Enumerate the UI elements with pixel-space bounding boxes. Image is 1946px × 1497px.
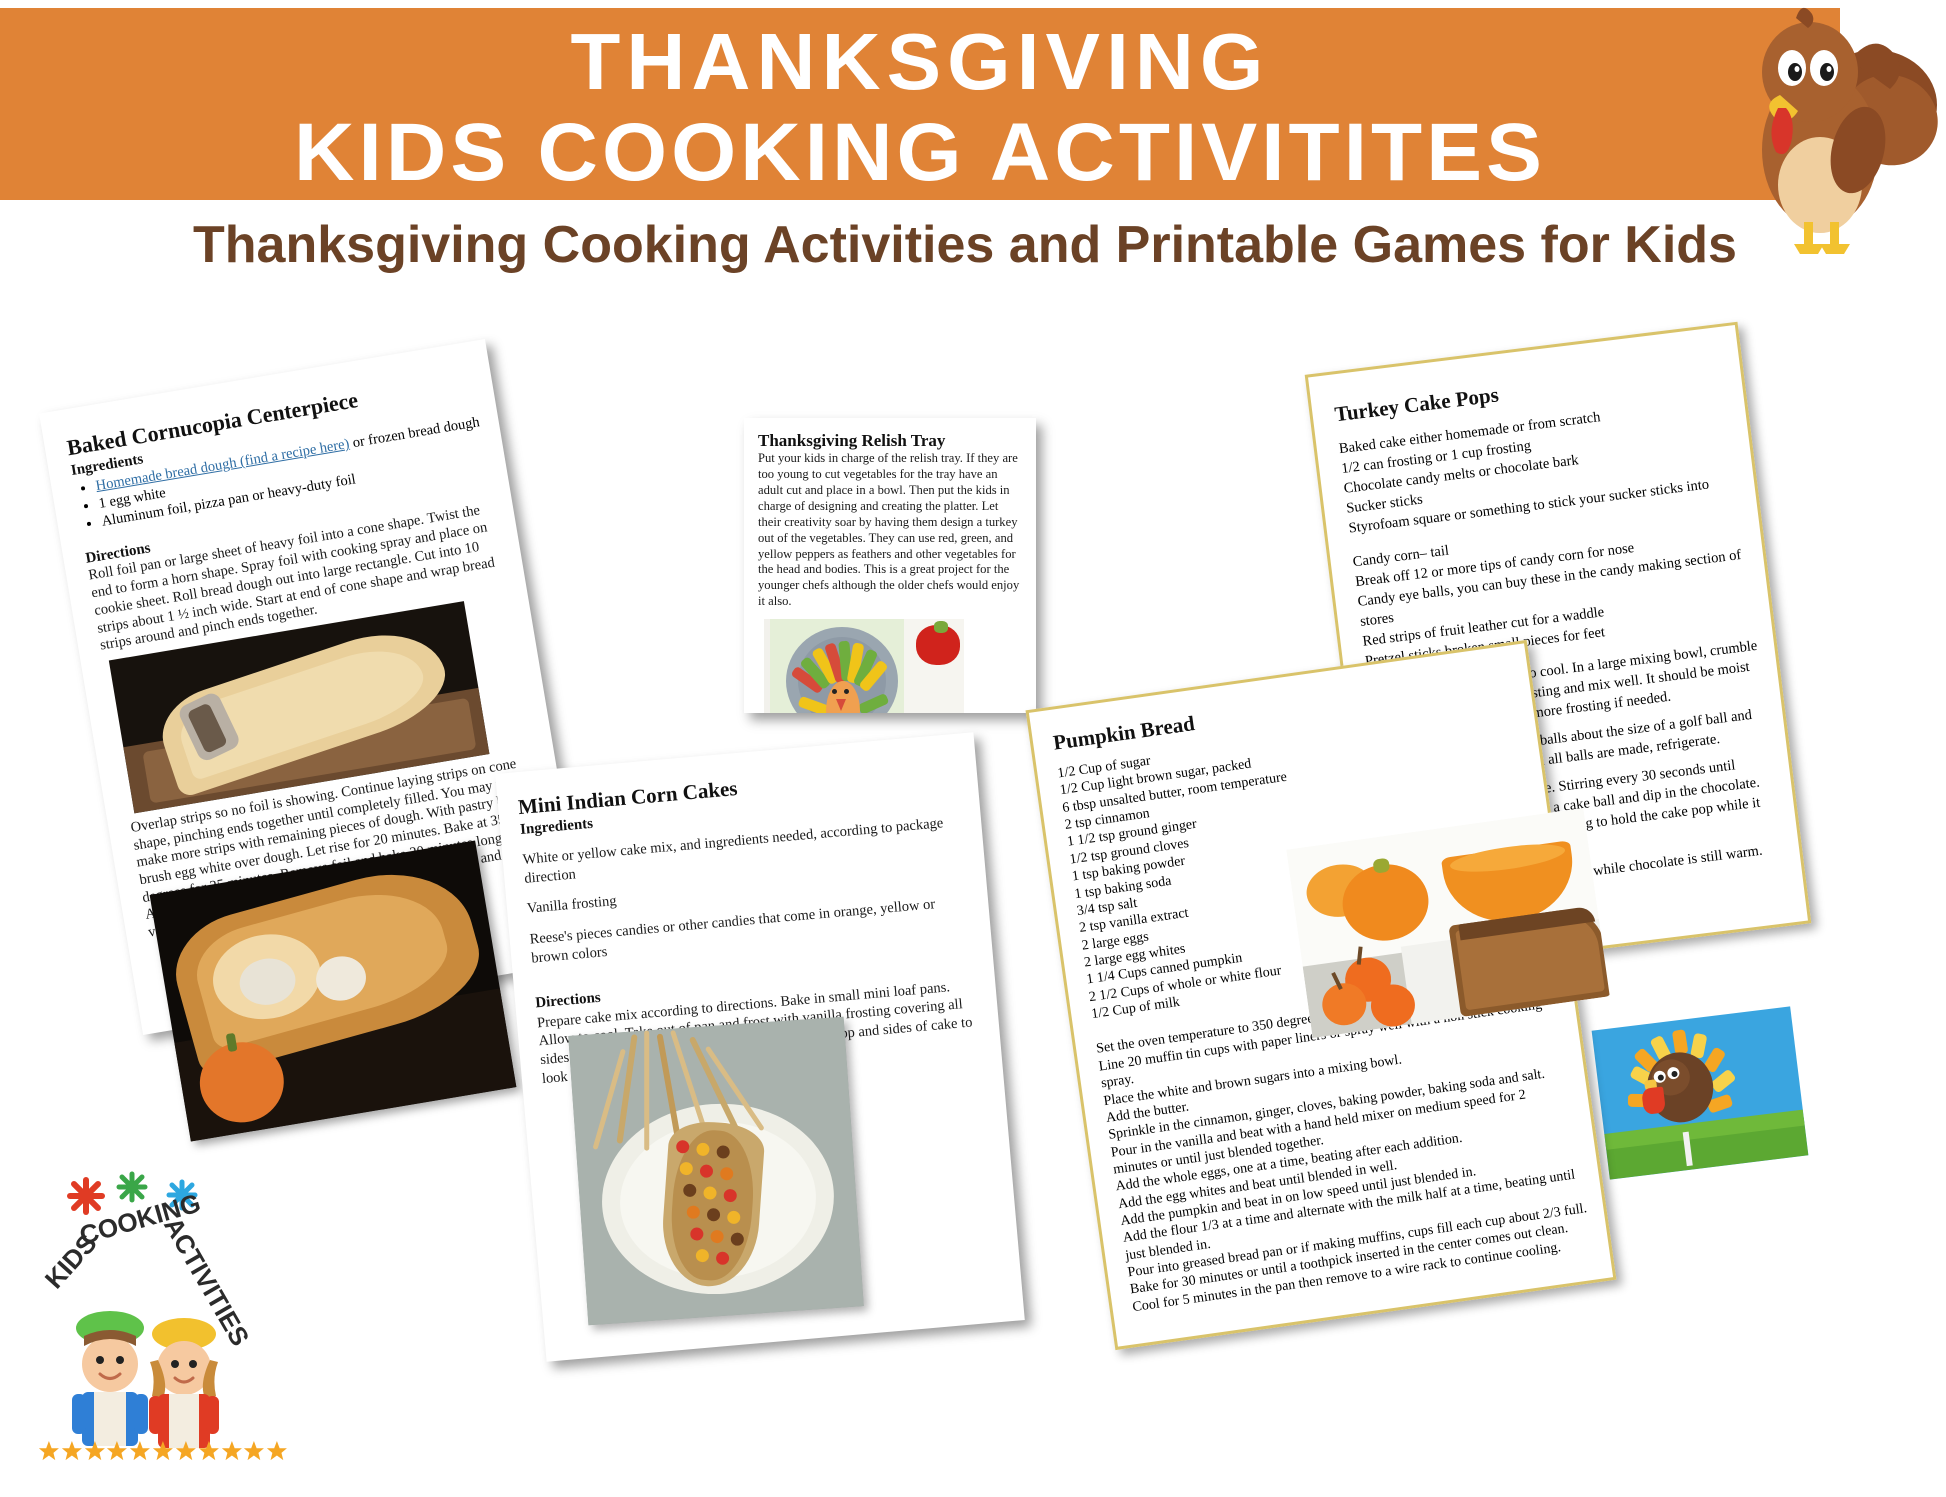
page-title-line-2: KIDS COOKING ACTIVITITES [0, 112, 1858, 194]
star-icon [175, 1440, 197, 1462]
star-icon [129, 1440, 151, 1462]
veggie-turkey-relish-tray-photo [764, 619, 964, 713]
logo-word-activities: ACTIVITIES [157, 1212, 255, 1351]
header-banner: THANKSGIVING KIDS COOKING ACTIVITITES [0, 8, 1840, 200]
turkey-cake-pop-photo [1592, 1006, 1809, 1179]
star-icon [106, 1440, 128, 1462]
logo-wordmark: KIDS COOKING ACTIVITIES [34, 1190, 262, 1340]
kids-cooking-activities-logo[interactable]: KIDS COOKING ACTIVITIES [32, 1168, 294, 1468]
star-icon [152, 1440, 174, 1462]
star-icon [243, 1440, 265, 1462]
star-icon [198, 1440, 220, 1462]
logo-star-row [38, 1440, 288, 1462]
turkey-mascot-icon [1700, 0, 1946, 260]
star-icon [221, 1440, 243, 1462]
baked-cornucopia-finished-photo [150, 840, 517, 1141]
star-icon [266, 1440, 288, 1462]
recipe-card-thanksgiving-relish-tray[interactable]: Thanksgiving Relish Tray Put your kids i… [744, 418, 1036, 713]
page-subtitle: Thanksgiving Cooking Activities and Prin… [0, 215, 1930, 275]
card-body-text: Put your kids in charge of the relish tr… [758, 451, 1024, 610]
mini-indian-corn-cake-photo [568, 1017, 864, 1326]
card-title: Thanksgiving Relish Tray [758, 430, 1024, 451]
page-title-line-1: THANKSGIVING [0, 22, 1858, 102]
star-icon [38, 1440, 60, 1462]
star-icon [61, 1440, 83, 1462]
star-icon [84, 1440, 106, 1462]
